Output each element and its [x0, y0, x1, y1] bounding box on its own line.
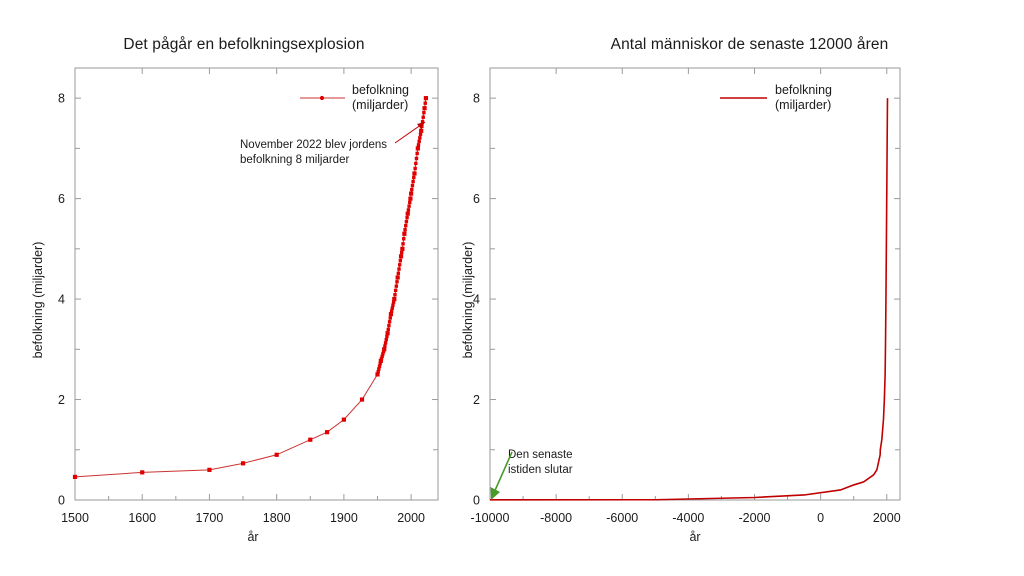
svg-text:1600: 1600 — [128, 511, 156, 525]
left-x-axis-title: år — [247, 530, 258, 544]
right-legend: befolkning (miljarder) — [720, 83, 832, 112]
left-annotation-arrowhead — [417, 122, 425, 129]
left-legend-marker — [320, 96, 324, 100]
svg-text:-2000: -2000 — [739, 511, 771, 525]
left-y-tick-labels: 02468 — [58, 92, 65, 508]
left-axis-ticks — [75, 68, 438, 500]
left-annotation-line1: November 2022 blev jordens — [240, 139, 387, 151]
right-axis-ticks — [490, 68, 900, 500]
svg-text:-4000: -4000 — [672, 511, 704, 525]
left-annotation: November 2022 blev jordens befolkning 8 … — [240, 122, 425, 166]
svg-text:0: 0 — [58, 494, 65, 508]
svg-text:-6000: -6000 — [606, 511, 638, 525]
svg-text:6: 6 — [473, 192, 480, 206]
svg-text:8: 8 — [473, 92, 480, 106]
left-chart-svg: 150016001700180019002000 02468 år befolk… — [0, 0, 460, 576]
right-x-axis-title: år — [689, 530, 700, 544]
svg-text:-8000: -8000 — [540, 511, 572, 525]
right-iceage-annotation: Den senaste istiden slutar — [491, 449, 573, 500]
left-legend-label-line1: befolkning — [352, 83, 409, 97]
left-legend-label-line2: (miljarder) — [352, 98, 408, 112]
svg-text:1800: 1800 — [263, 511, 291, 525]
svg-text:0: 0 — [817, 511, 824, 525]
svg-text:2000: 2000 — [397, 511, 425, 525]
svg-text:8: 8 — [58, 92, 65, 106]
left-annotation-line2: befolkning 8 miljarder — [240, 154, 349, 166]
right-annotation-line1: Den senaste — [508, 449, 573, 461]
svg-text:0: 0 — [473, 494, 480, 508]
svg-text:2000: 2000 — [873, 511, 901, 525]
right-chart-svg: -10000-8000-6000-4000-200002000 02468 år… — [455, 0, 1024, 576]
svg-text:1900: 1900 — [330, 511, 358, 525]
svg-text:6: 6 — [58, 192, 65, 206]
left-plot-border — [75, 68, 438, 500]
svg-text:-10000: -10000 — [471, 511, 510, 525]
left-legend: befolkning (miljarder) — [300, 83, 409, 112]
right-y-axis-title: befolkning (miljarder) — [461, 242, 475, 359]
svg-text:2: 2 — [473, 393, 480, 407]
left-chart-panel: Det pågår en befolkningsexplosion 150016… — [0, 0, 460, 576]
svg-text:1700: 1700 — [196, 511, 224, 525]
right-plot-border — [490, 68, 900, 500]
right-legend-label-line2: (miljarder) — [775, 98, 831, 112]
right-series-line — [490, 98, 888, 500]
svg-text:1500: 1500 — [61, 511, 89, 525]
right-x-tick-labels: -10000-8000-6000-4000-200002000 — [471, 511, 901, 525]
svg-text:2: 2 — [58, 393, 65, 407]
right-annotation-line2: istiden slutar — [508, 464, 573, 476]
slide-canvas: Det pågår en befolkningsexplosion 150016… — [0, 0, 1024, 576]
right-legend-label-line1: befolkning — [775, 83, 832, 97]
right-chart-panel: Antal människor de senaste 12000 åren -1… — [455, 0, 1024, 576]
svg-text:4: 4 — [58, 293, 65, 307]
left-y-axis-title: befolkning (miljarder) — [31, 242, 45, 359]
left-x-tick-labels: 150016001700180019002000 — [61, 511, 425, 525]
